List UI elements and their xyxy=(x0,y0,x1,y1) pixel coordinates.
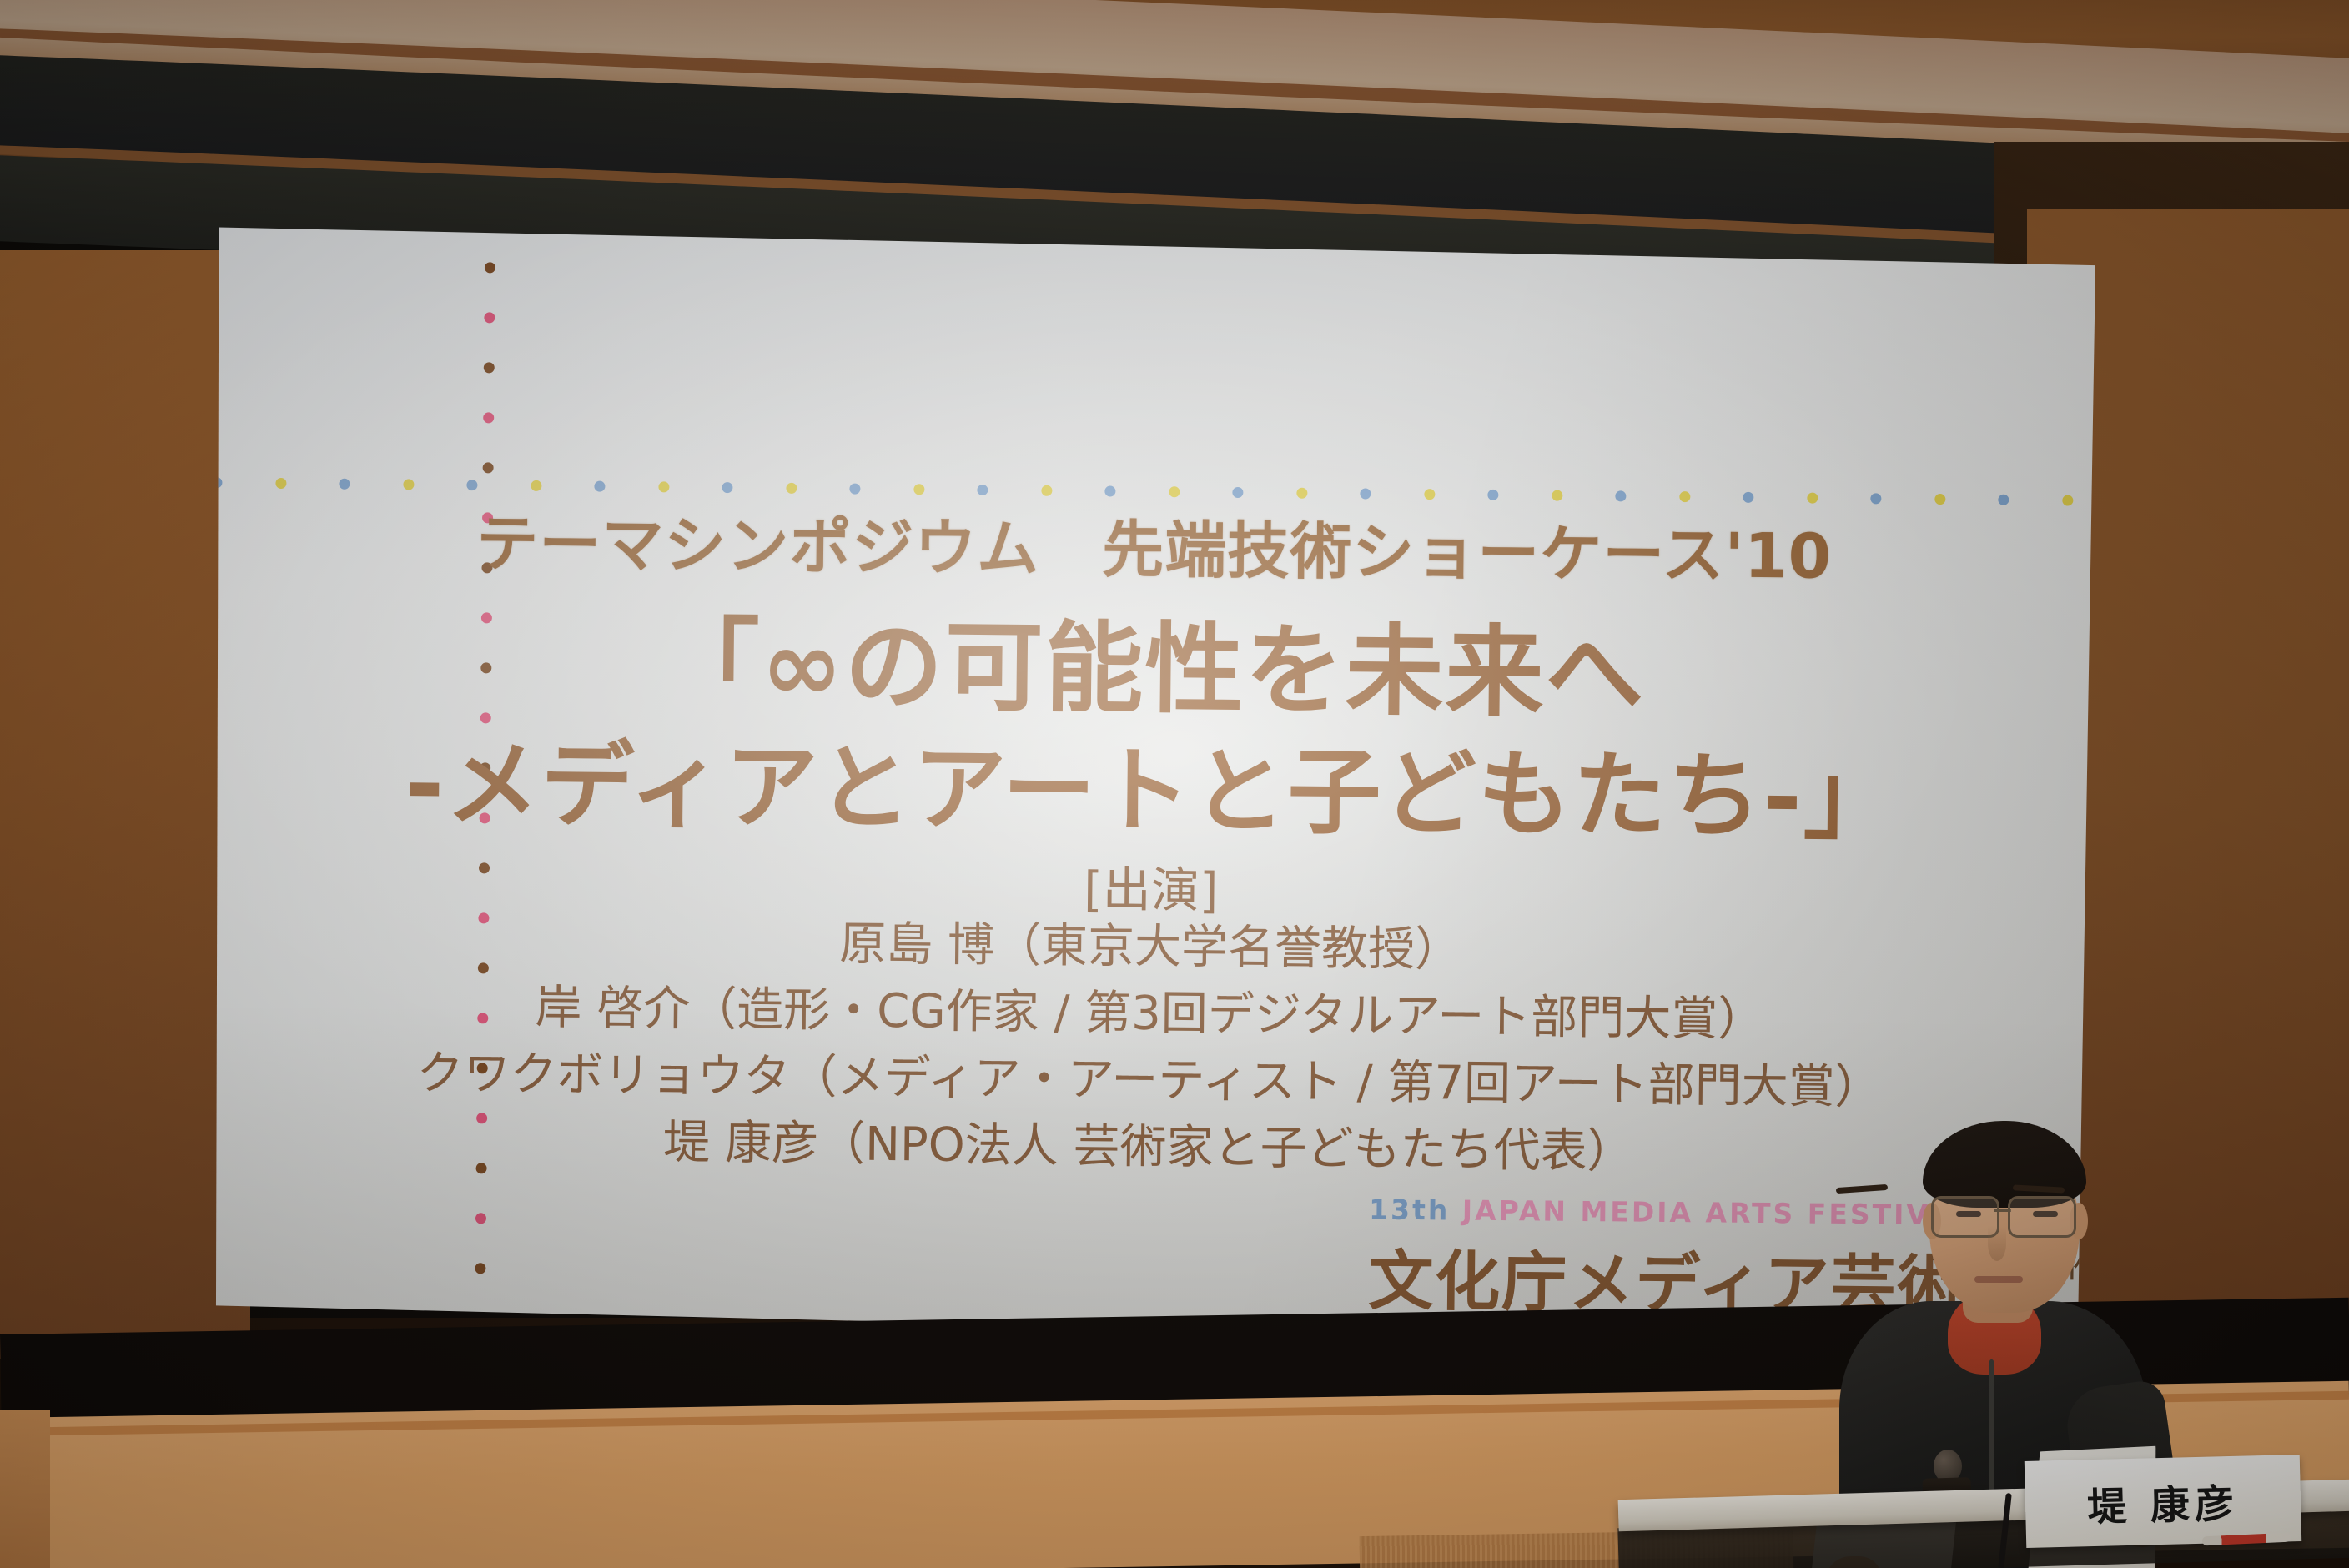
slide-content: テーマシンポジウム 先端技術ショーケース'10 「∞の可能性を未来へ -メディア… xyxy=(209,223,2096,1350)
presenter-nose xyxy=(1988,1226,2006,1261)
projection-screen: テーマシンポジウム 先端技術ショーケース'10 「∞の可能性を未来へ -メディア… xyxy=(209,223,2096,1350)
decor-dot xyxy=(474,1313,485,1324)
presenter-hair xyxy=(1923,1121,2086,1208)
name-plate-text: 堤 康彦 xyxy=(2086,1470,2239,1531)
cast-list: 原島 博（東京大学名誉教授） 岸 啓介（造形・CG作家 / 第3回デジタルアート… xyxy=(210,905,2090,1190)
screen-surface: テーマシンポジウム 先端技術ショーケース'10 「∞の可能性を未来へ -メディア… xyxy=(209,223,2096,1350)
festival-ordinal: 13th xyxy=(1369,1194,1451,1227)
presenter-eyebrow-left xyxy=(1836,1184,1888,1194)
slide-title-line-2: -メディアとアートと子どもたち-」 xyxy=(213,706,2090,860)
presenter-mouth xyxy=(1974,1276,2023,1283)
photo-scene: テーマシンポジウム 先端技術ショーケース'10 「∞の可能性を未来へ -メディア… xyxy=(0,0,2349,1568)
glasses-lens-right xyxy=(2008,1196,2076,1238)
stage-left-pillar xyxy=(0,1410,50,1568)
eyeglasses-icon xyxy=(1928,1196,2086,1234)
